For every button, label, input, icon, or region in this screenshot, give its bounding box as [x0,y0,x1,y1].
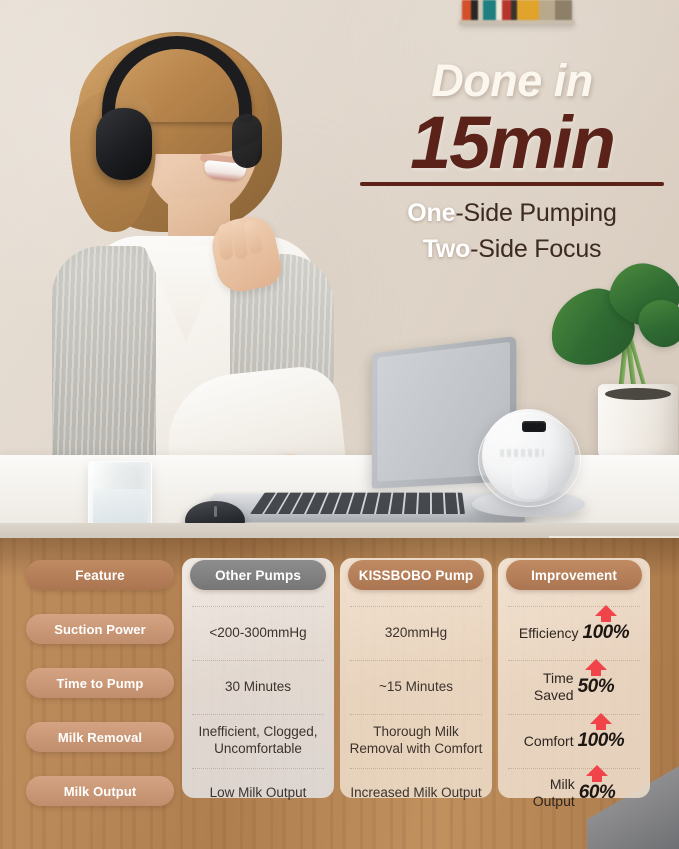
cell-other: Inefficient, Clogged, Uncomfortable [184,714,332,768]
cell-improvement: Comfort 100% [500,714,648,768]
cell-other: 30 Minutes [184,660,332,714]
headline-sub2-rest: -Side Focus [470,235,601,263]
cell-kissbobo: Increased Milk Output [342,768,490,818]
cell-kissbobo: Thorough Milk Removal with Comfort [342,714,490,768]
headline-sub1-rest: -Side Pumping [455,199,616,227]
bookshelf [462,0,572,22]
cell-other: Low Milk Output [184,768,332,818]
cell-other: <200-300mmHg [184,606,332,660]
comparison-table: Feature Other Pumps KISSBOBO Pump Improv… [0,548,679,800]
header-feature: Feature [26,560,174,590]
row-feature-label: Time to Pump [26,668,174,698]
cell-improvement: Efficiency 100% [500,606,648,660]
row-feature-label: Milk Output [26,776,174,806]
pump-display-window [522,421,546,432]
improvement-value: 60% [579,782,616,804]
headphones-earcup-far [232,114,262,168]
improvement-value: 50% [578,676,615,698]
headline-sub2-bold: Two [423,235,471,263]
header-improvement: Improvement [506,560,642,590]
cell-improvement: Milk Output 60% [500,768,648,818]
headline-line1: Done in [352,58,672,103]
row-feature-label: Milk Removal [26,722,174,752]
headline-sub1-bold: One [407,199,455,227]
infographic-root: Done in 15min One-Side Pumping Two-Side … [0,0,679,849]
headline-block: Done in 15min One-Side Pumping Two-Side … [352,58,672,267]
breast-pump-product [478,409,579,509]
shelf-board [459,20,575,25]
person [18,22,348,522]
cell-improvement: Time Saved 50% [500,660,648,714]
improvement-value: 100% [583,622,630,644]
header-kissbobo-pump: KISSBOBO Pump [348,560,484,590]
cell-kissbobo: ~15 Minutes [342,660,490,714]
improvement-label: Time Saved [534,670,574,703]
improvement-label: Comfort [524,733,574,750]
headline-line2: 15min [352,105,672,180]
improvement-label: Efficiency [519,625,579,642]
laptop-keyboard [250,493,465,514]
headline-sub1: One-Side Pumping [352,196,672,232]
cell-kissbobo: 320mmHg [342,606,490,660]
header-other-pumps: Other Pumps [190,560,326,590]
row-feature-label: Suction Power [26,614,174,644]
headline-sub2: Two-Side Focus [352,232,672,268]
headphones-earcup [96,108,152,180]
improvement-label: Milk Output [533,776,575,809]
improvement-value: 100% [578,730,625,752]
